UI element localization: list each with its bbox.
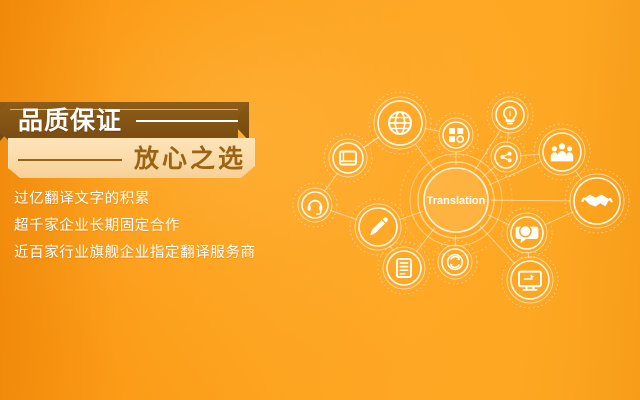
monitor-icon — [519, 272, 541, 290]
network-link — [415, 143, 436, 171]
node-ring — [387, 251, 421, 285]
node-dashed-ring — [378, 242, 430, 294]
ribbon-subtitle-rule — [18, 159, 122, 161]
network-link — [507, 132, 508, 143]
node-ring — [511, 261, 549, 299]
recycle-globe-icon — [448, 255, 463, 270]
network-link — [363, 137, 379, 148]
network-nodes: Translation — [293, 92, 629, 308]
network-node-document — [378, 242, 430, 294]
network-link — [399, 211, 423, 219]
blocks-icon — [449, 128, 463, 142]
node-ring — [333, 143, 363, 173]
network-node-recycle — [433, 240, 477, 284]
network-node-book — [324, 134, 372, 182]
book-icon — [340, 152, 356, 165]
network-link — [520, 154, 540, 156]
network-link — [330, 210, 357, 219]
ribbon-title: 品质保证 — [18, 103, 122, 140]
node-dashed-ring — [434, 113, 478, 157]
network-link — [544, 212, 573, 225]
ribbon-subtitle: 放心之选 — [134, 142, 246, 177]
hub-label: Translation — [427, 195, 486, 207]
node-ring — [442, 249, 468, 275]
node-dashed-ring — [324, 134, 372, 182]
banner-root: Translation 品质保证 放心之选 过亿翻译文字的积累 超千家企业长期固… — [0, 0, 640, 400]
network-node-pencil — [350, 199, 406, 255]
network-node-bulb — [487, 92, 533, 138]
node-outer-ring — [439, 118, 473, 152]
network-node-monitor — [502, 252, 558, 308]
handshake-icon — [582, 195, 611, 207]
network-link — [416, 228, 435, 252]
node-dashed-ring — [433, 240, 477, 284]
feature-item: 过亿翻译文字的积累 — [14, 188, 314, 211]
pencil-icon — [370, 217, 387, 234]
feature-list: 过亿翻译文字的积累 超千家企业长期固定合作 近百家行业旗舰企业指定翻译服务商 — [14, 188, 314, 269]
network-node-people — [534, 124, 590, 180]
network-link — [324, 173, 337, 192]
network-link — [488, 161, 542, 185]
chat-bubble-icon — [516, 226, 539, 243]
globe-icon — [389, 112, 411, 134]
network-node-blocks — [434, 113, 478, 157]
network-link — [491, 200, 571, 201]
node-outer-ring — [507, 257, 553, 303]
node-outer-ring — [329, 139, 367, 177]
node-outer-ring — [438, 245, 472, 279]
node-outer-ring — [383, 247, 425, 289]
people-icon — [551, 143, 573, 161]
ribbon-title-rule — [136, 120, 238, 122]
quality-ribbon: 品质保证 放心之选 — [0, 102, 262, 178]
network-graphic: Translation — [260, 0, 640, 400]
node-ring — [495, 146, 517, 168]
network-link — [480, 226, 515, 264]
network-link — [424, 128, 440, 131]
network-node-globe — [369, 92, 431, 154]
feature-item: 近百家行业旗舰企业指定翻译服务商 — [14, 242, 314, 265]
share-icon — [500, 152, 511, 162]
lightbulb-icon — [504, 107, 516, 123]
feature-item: 超千家企业长期固定合作 — [14, 215, 314, 238]
document-icon — [397, 259, 411, 277]
node-ring — [443, 122, 469, 148]
network-node-handshake — [565, 169, 629, 233]
